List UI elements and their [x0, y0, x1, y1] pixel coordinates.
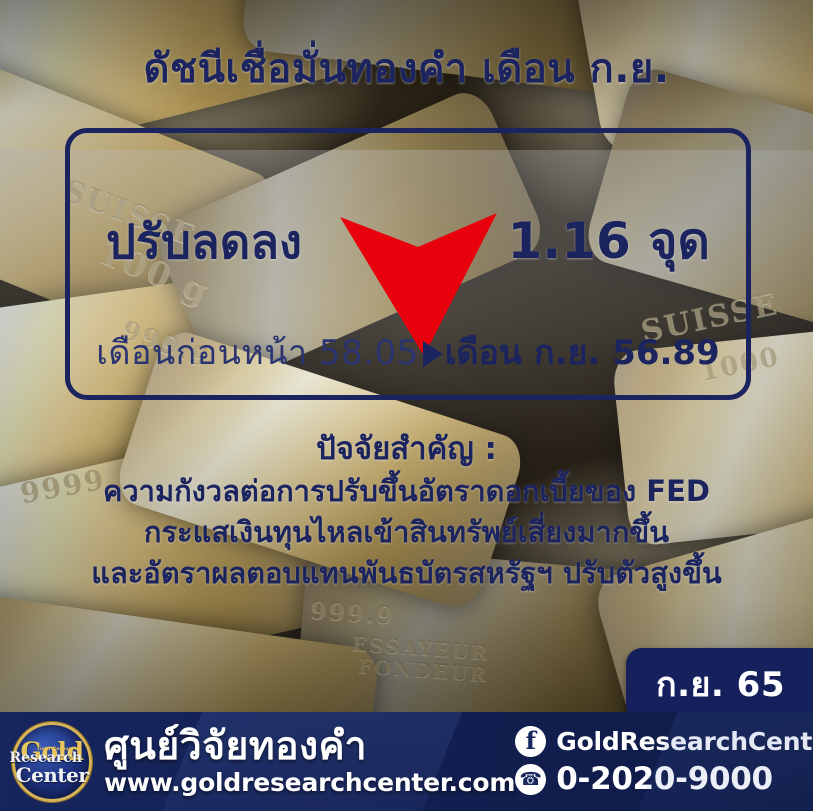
month-comparison-row: เดือนก่อนหน้า 58.05 เดือน ก.ย. 56.89 — [70, 325, 746, 379]
index-change-row: ปรับลดลง 1.16 จุด — [70, 181, 746, 301]
facebook-handle: GoldResearchCenter — [556, 727, 813, 756]
gold-research-center-logo: Gold Center Research Gold Research — [12, 722, 92, 802]
page-title: ดัชนีเชื่อมั่นทองคำ เดือน ก.ย. — [0, 47, 813, 91]
key-factor-line: ความกังวลต่อการปรับขึ้นอัตราดอกเบี้ยของ … — [0, 471, 813, 512]
key-factor-line: และอัตราผลตอบแทนพันธบัตรสหรัฐฯ ปรับตัวสู… — [0, 553, 813, 594]
infographic-poster: SUISSE 100 g 999.9 SUISSE 1000 999.9 ESS… — [0, 0, 813, 811]
current-month-value: เดือน ก.ย. 56.89 — [445, 325, 720, 379]
phone-number: 0-2020-9000 — [556, 761, 773, 797]
poster-content: ดัชนีเชื่อมั่นทองคำ เดือน ก.ย. ปรับลดลง … — [0, 0, 813, 811]
contact-block: f GoldResearchCenter ☎ 0-2020-9000 — [515, 726, 813, 797]
logo-word-research: Research — [10, 751, 82, 765]
brand-name-thai: ศูนย์วิจัยทองคำ — [104, 727, 515, 768]
key-factor-line: กระแสเงินทุนไหลเข้าสินทรัพย์เสี่ยงมากขึ้… — [0, 512, 813, 553]
change-value: 1.16 จุด — [507, 202, 710, 281]
logo-micro-text: Gold Research — [37, 747, 78, 752]
website-url[interactable]: www.goldresearchcenter.com — [104, 769, 515, 797]
footer-bar: Gold Center Research Gold Research ศูนย์… — [0, 712, 813, 811]
direction-label: ปรับลดลง — [106, 204, 302, 279]
brand-block: Gold Center Research Gold Research ศูนย์… — [12, 722, 515, 802]
index-summary-panel: ปรับลดลง 1.16 จุด เดือนก่อนหน้า 58.05 เด… — [65, 128, 751, 400]
phone-icon: ☎ — [515, 764, 546, 795]
logo-word-center: Center — [16, 765, 89, 785]
phone-contact[interactable]: ☎ 0-2020-9000 — [515, 761, 813, 797]
key-factors-heading: ปัจจัยสำคัญ : — [0, 428, 813, 471]
facebook-contact[interactable]: f GoldResearchCenter — [515, 726, 813, 757]
previous-month-value: เดือนก่อนหน้า 58.05 — [96, 325, 419, 379]
facebook-icon: f — [515, 726, 546, 757]
key-factors-section: ปัจจัยสำคัญ : ความกังวลต่อการปรับขึ้นอัต… — [0, 428, 813, 594]
right-triangle-icon — [423, 341, 443, 367]
date-badge: ก.ย. 65 — [626, 648, 813, 722]
